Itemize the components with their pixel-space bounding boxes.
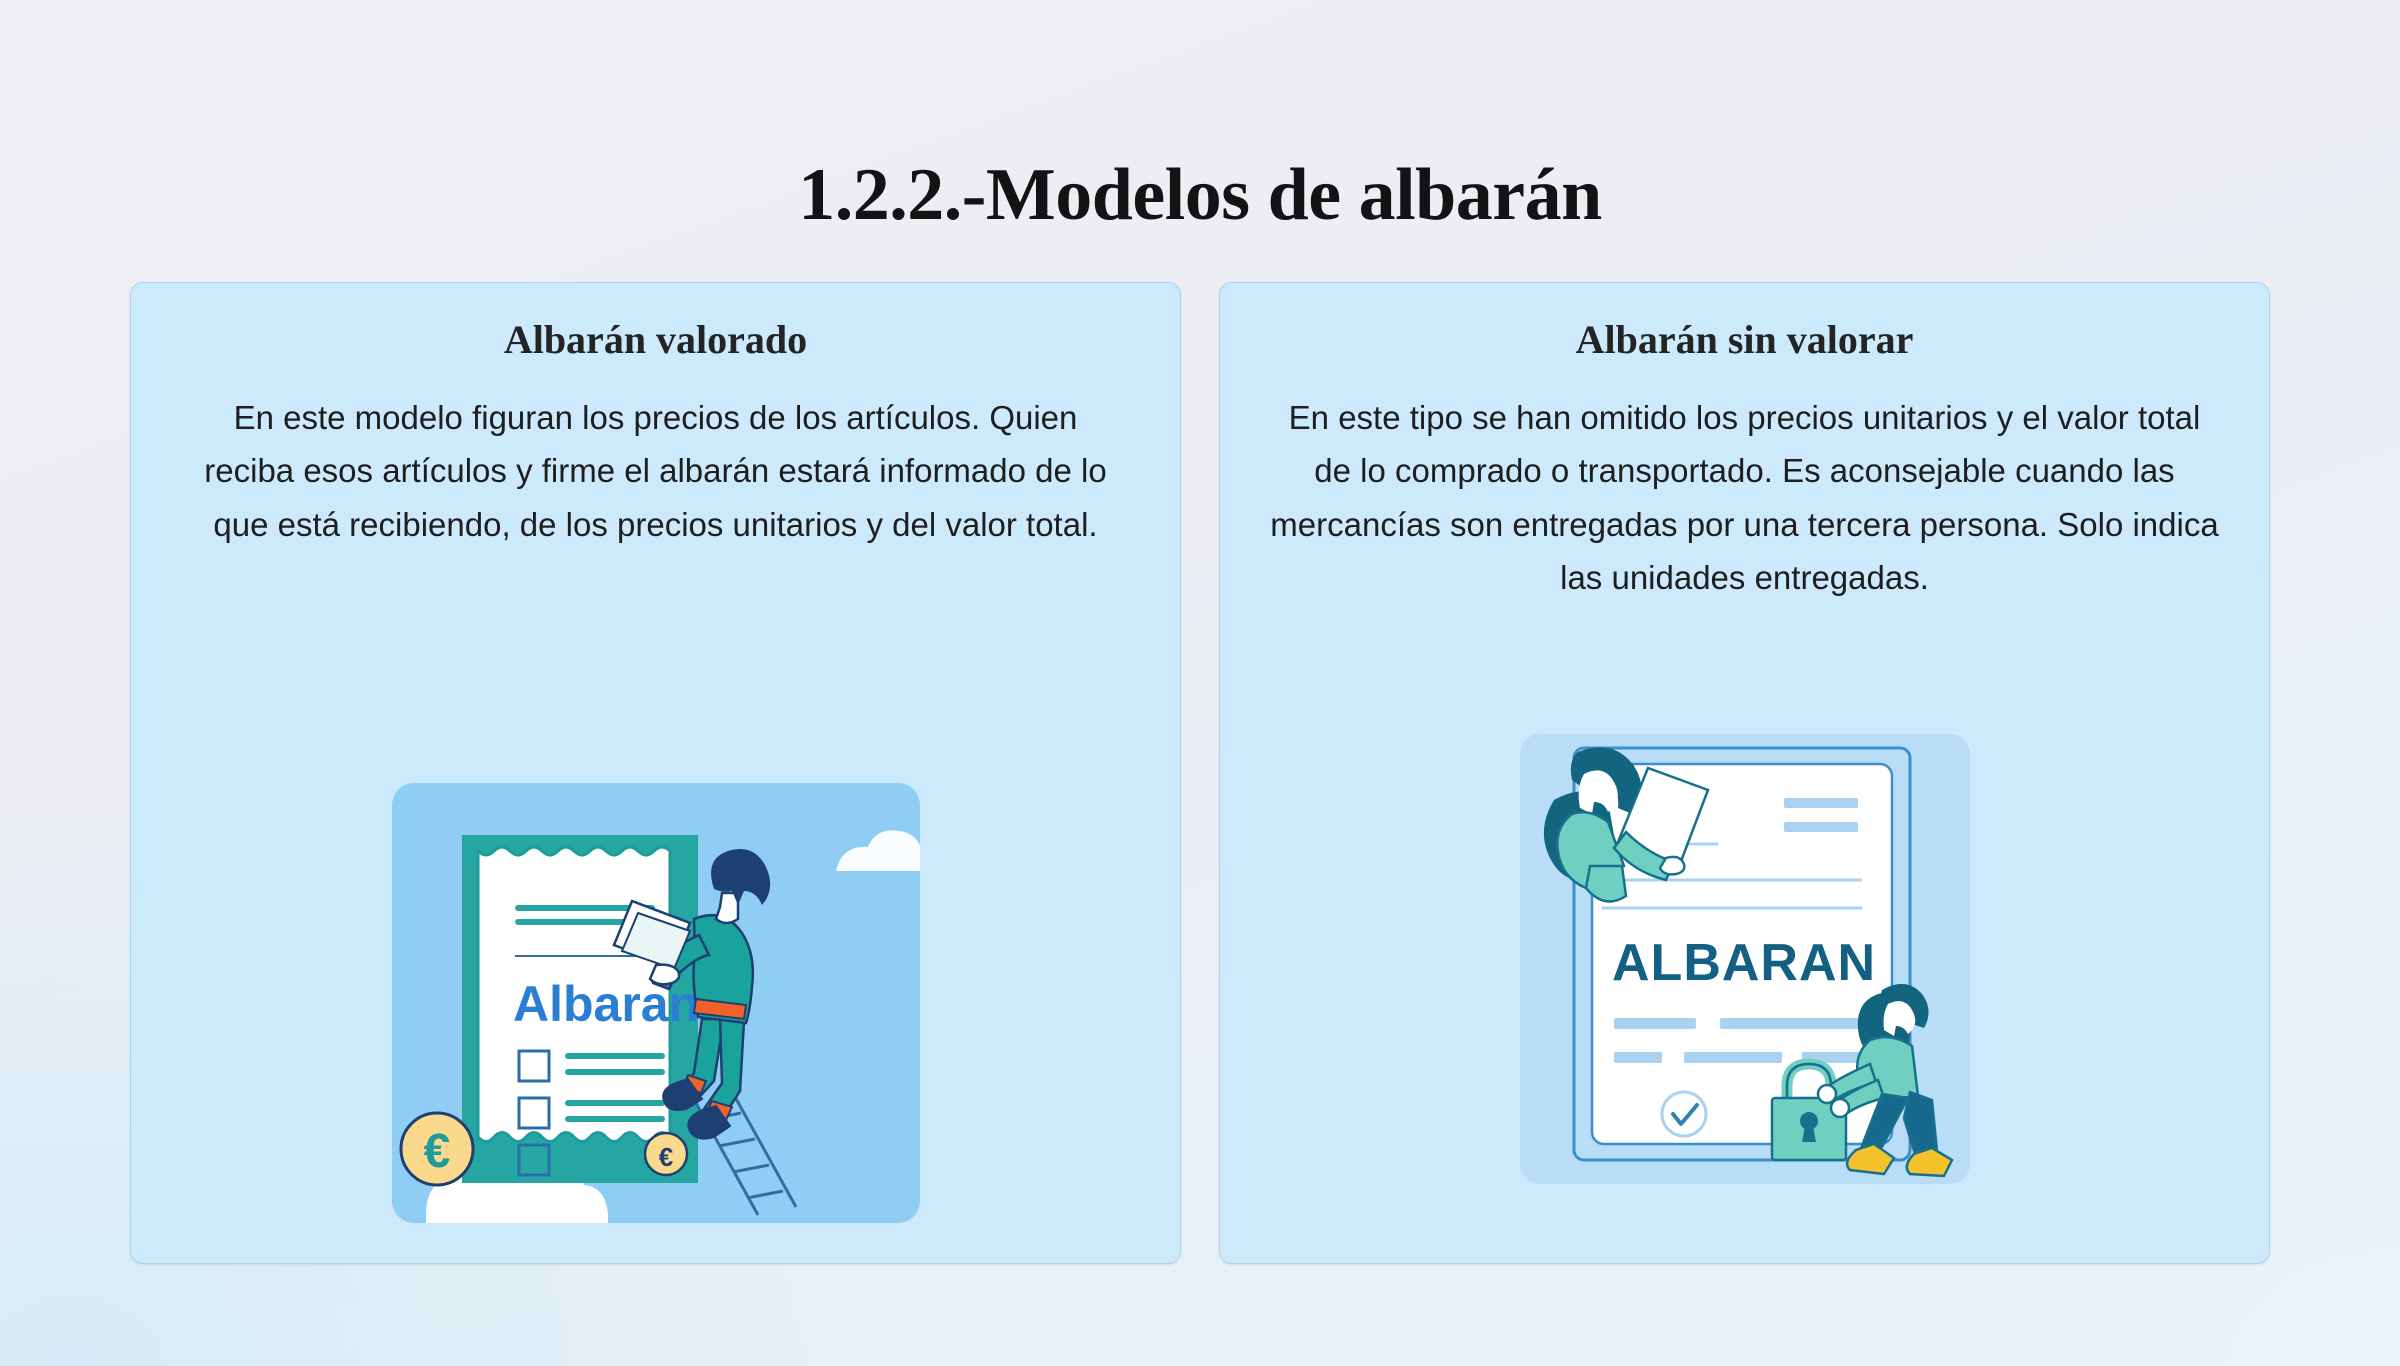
euro-symbol: € <box>423 1125 450 1178</box>
euro-symbol: € <box>658 1142 672 1172</box>
card-albaran-sin-valorar: Albarán sin valorar En este tipo se han … <box>1219 282 2270 1264</box>
card-heading-albaran-sin-valorar: Albarán sin valorar <box>1220 317 2269 363</box>
document-line <box>1720 1018 1872 1029</box>
document-line <box>1784 822 1858 832</box>
card-body-albaran-valorado: En este modelo figuran los precios de lo… <box>191 391 1121 551</box>
document-line <box>565 1069 665 1075</box>
page-title: 1.2.2.-Modelos de albarán <box>0 158 2400 232</box>
card-heading-albaran-valorado: Albarán valorado <box>131 317 1180 363</box>
euro-coin-large: € <box>401 1113 473 1185</box>
cards-container: Albarán valorado En este modelo figuran … <box>130 282 2270 1264</box>
euro-coin-small: € <box>645 1133 687 1175</box>
document-line <box>565 1116 665 1122</box>
document-line <box>1684 1052 1782 1063</box>
document-label: ALBARAN <box>1612 934 1876 992</box>
document-line <box>1614 1018 1696 1029</box>
document-line <box>565 1100 665 1106</box>
card-albaran-valorado: Albarán valorado En este modelo figuran … <box>130 282 1181 1264</box>
unvalued-delivery-note-illustration: ALBARAN <box>1506 728 1984 1206</box>
valued-delivery-note-illustration: Albaran <box>366 783 946 1223</box>
page-root: 1.2.2.-Modelos de albarán Albarán valora… <box>0 0 2400 1366</box>
document-line <box>565 1053 665 1059</box>
illustration-wrap-albaran-valorado: Albaran <box>131 783 1180 1223</box>
card-body-albaran-sin-valorar: En este tipo se han omitido los precios … <box>1270 391 2220 605</box>
illustration-wrap-albaran-sin-valorar: ALBARAN <box>1220 728 2269 1206</box>
document-line <box>1784 798 1858 808</box>
document-line <box>1614 1052 1662 1063</box>
